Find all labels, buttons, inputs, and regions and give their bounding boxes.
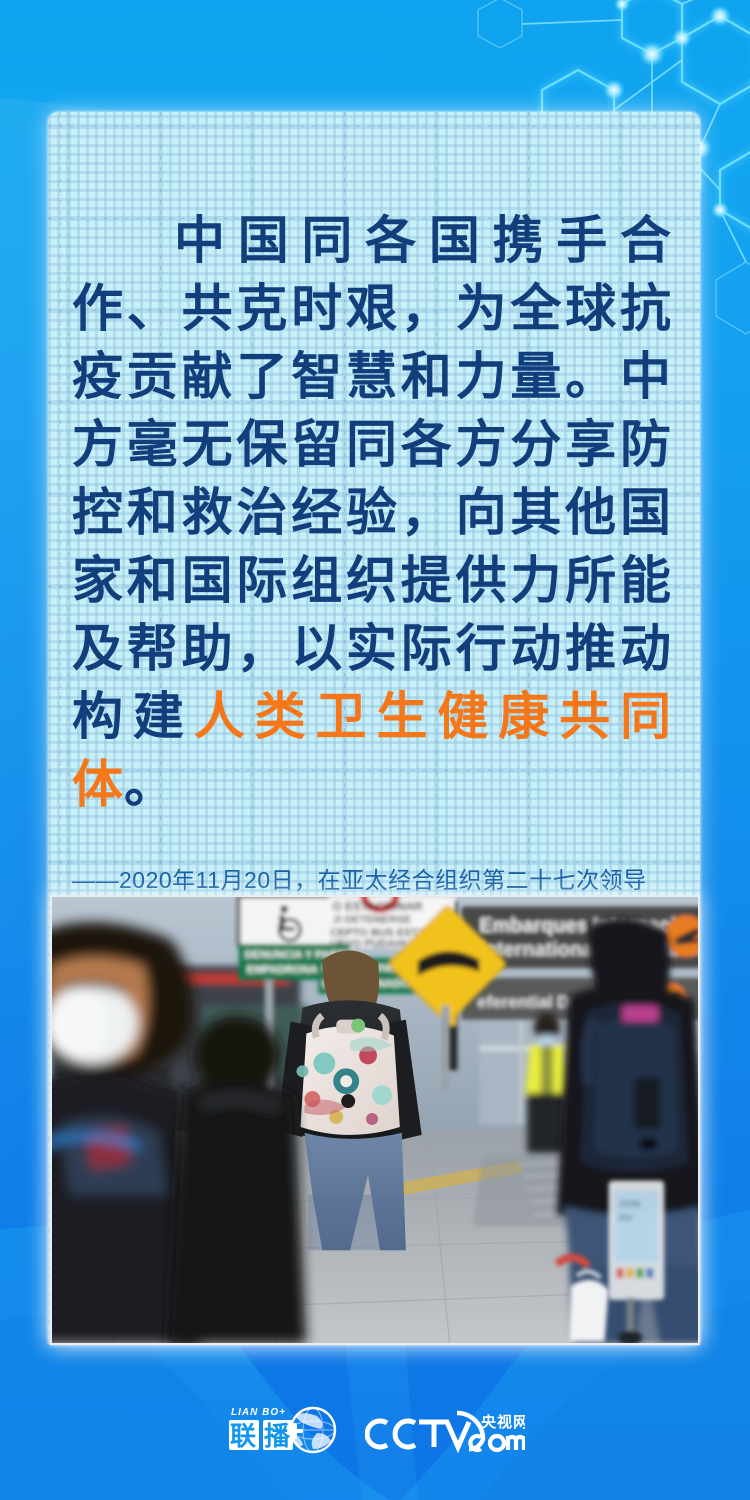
logo-bar: LIAN BO+ 联 播 LIAN BO+ 联播+ [0,1400,750,1460]
svg-text:¡hola: ¡hola [618,1198,641,1209]
svg-text:播: 播 [264,1421,291,1451]
lianbo-plus-logo[interactable]: LIAN BO+ 联 播 LIAN BO+ 联播+ [225,1403,343,1457]
quote-text-part2: 。 [124,758,176,814]
lianbo-logo-cn: 联播+ [225,1457,226,1458]
svg-text:联: 联 [230,1421,256,1451]
news-photo: 智利圣地亚哥机场国际出发口戴口罩的旅客 [50,895,700,1345]
svg-text:LIAN BO+: LIAN BO+ [231,1407,286,1418]
cctv-domain-text: com [365,1455,366,1456]
lianbo-logo-en: LIAN BO+ [225,1457,226,1458]
svg-text:O ESTACIONAR: O ESTACIONAR [332,899,423,913]
quote-text-part1: 中国同各国携手合作、共克时艰，为全球抗疫贡献了智慧和力量。中方毫无保留同各方分享… [72,214,672,746]
cctv-logo-cn: 央视网 [365,1455,366,1456]
poster-root: 中国同各国携手合作、共克时艰，为全球抗疫贡献了智慧和力量。中方毫无保留同各方分享… [0,0,750,1500]
cctv-com-logo[interactable]: 央视网 CCTV com 央视网 [365,1405,525,1455]
cctv-logo-text: CCTV [365,1455,366,1456]
quote-text: 中国同各国携手合作、共克时艰，为全球抗疫贡献了智慧和力量。中方毫无保留同各方分享… [72,208,672,820]
svg-text:JI DETENERSE: JI DETENERSE [332,914,411,926]
svg-text:央视网: 央视网 [481,1413,525,1431]
svg-text:dur: dur [618,1212,633,1223]
